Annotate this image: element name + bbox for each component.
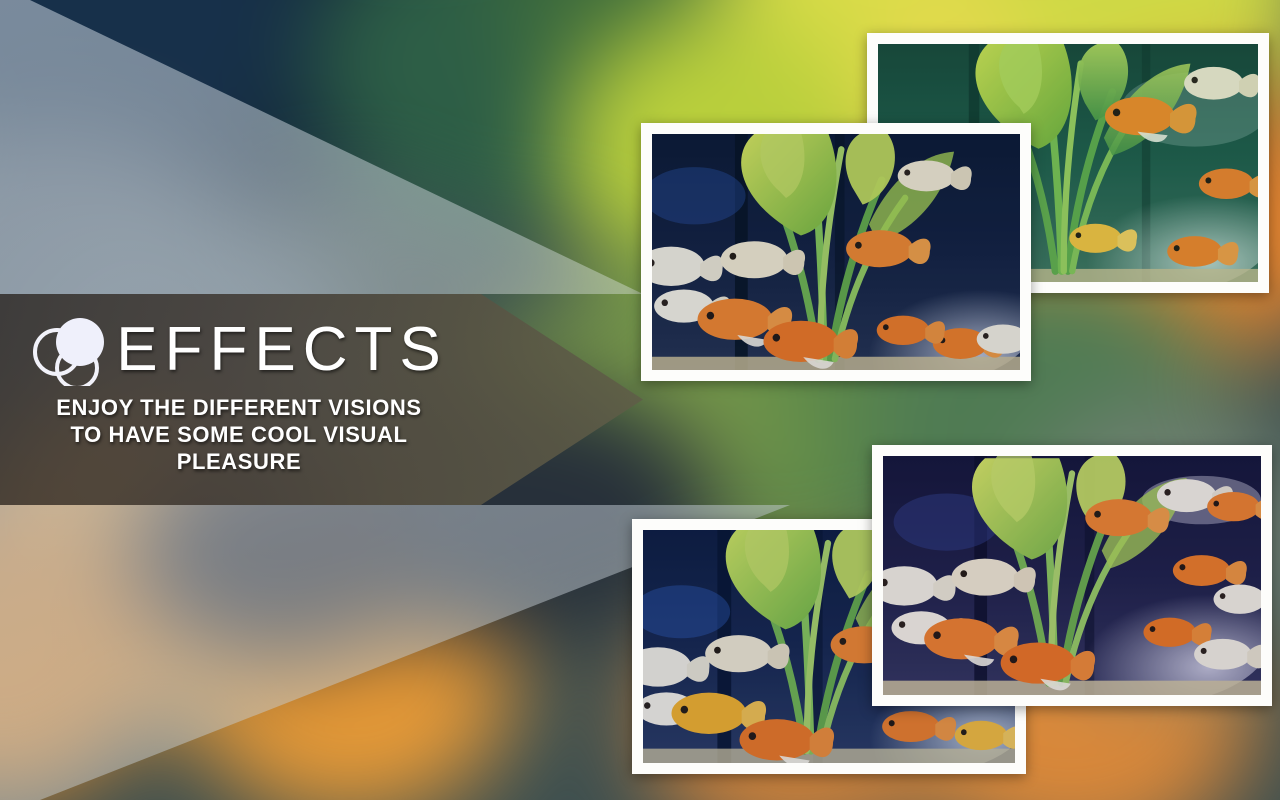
photo-top-front[interactable] <box>641 123 1031 381</box>
aquarium-scene-violet <box>883 456 1261 695</box>
photo-top-front-image <box>652 134 1020 370</box>
page-title: EFFECTS <box>116 319 447 381</box>
effects-banner: EFFECTS ENJOY THE DIFFERENT VISIONS TO H… <box>0 294 643 505</box>
subtitle-line-1: ENJOY THE DIFFERENT VISIONS <box>24 394 454 421</box>
subtitle-line-3: PLEASURE <box>24 448 454 475</box>
three-overlapping-circles-icon <box>30 314 116 386</box>
photo-bottom-back-image <box>883 456 1261 695</box>
aquarium-scene-blue <box>652 134 1020 370</box>
banner-content: EFFECTS ENJOY THE DIFFERENT VISIONS TO H… <box>0 294 478 505</box>
promo-screen: EFFECTS ENJOY THE DIFFERENT VISIONS TO H… <box>0 0 1280 800</box>
photo-bottom-back[interactable] <box>872 445 1272 706</box>
banner-subtitle: ENJOY THE DIFFERENT VISIONS TO HAVE SOME… <box>24 394 454 475</box>
subtitle-line-2: TO HAVE SOME COOL VISUAL <box>24 421 454 448</box>
banner-title-row: EFFECTS <box>30 312 447 388</box>
